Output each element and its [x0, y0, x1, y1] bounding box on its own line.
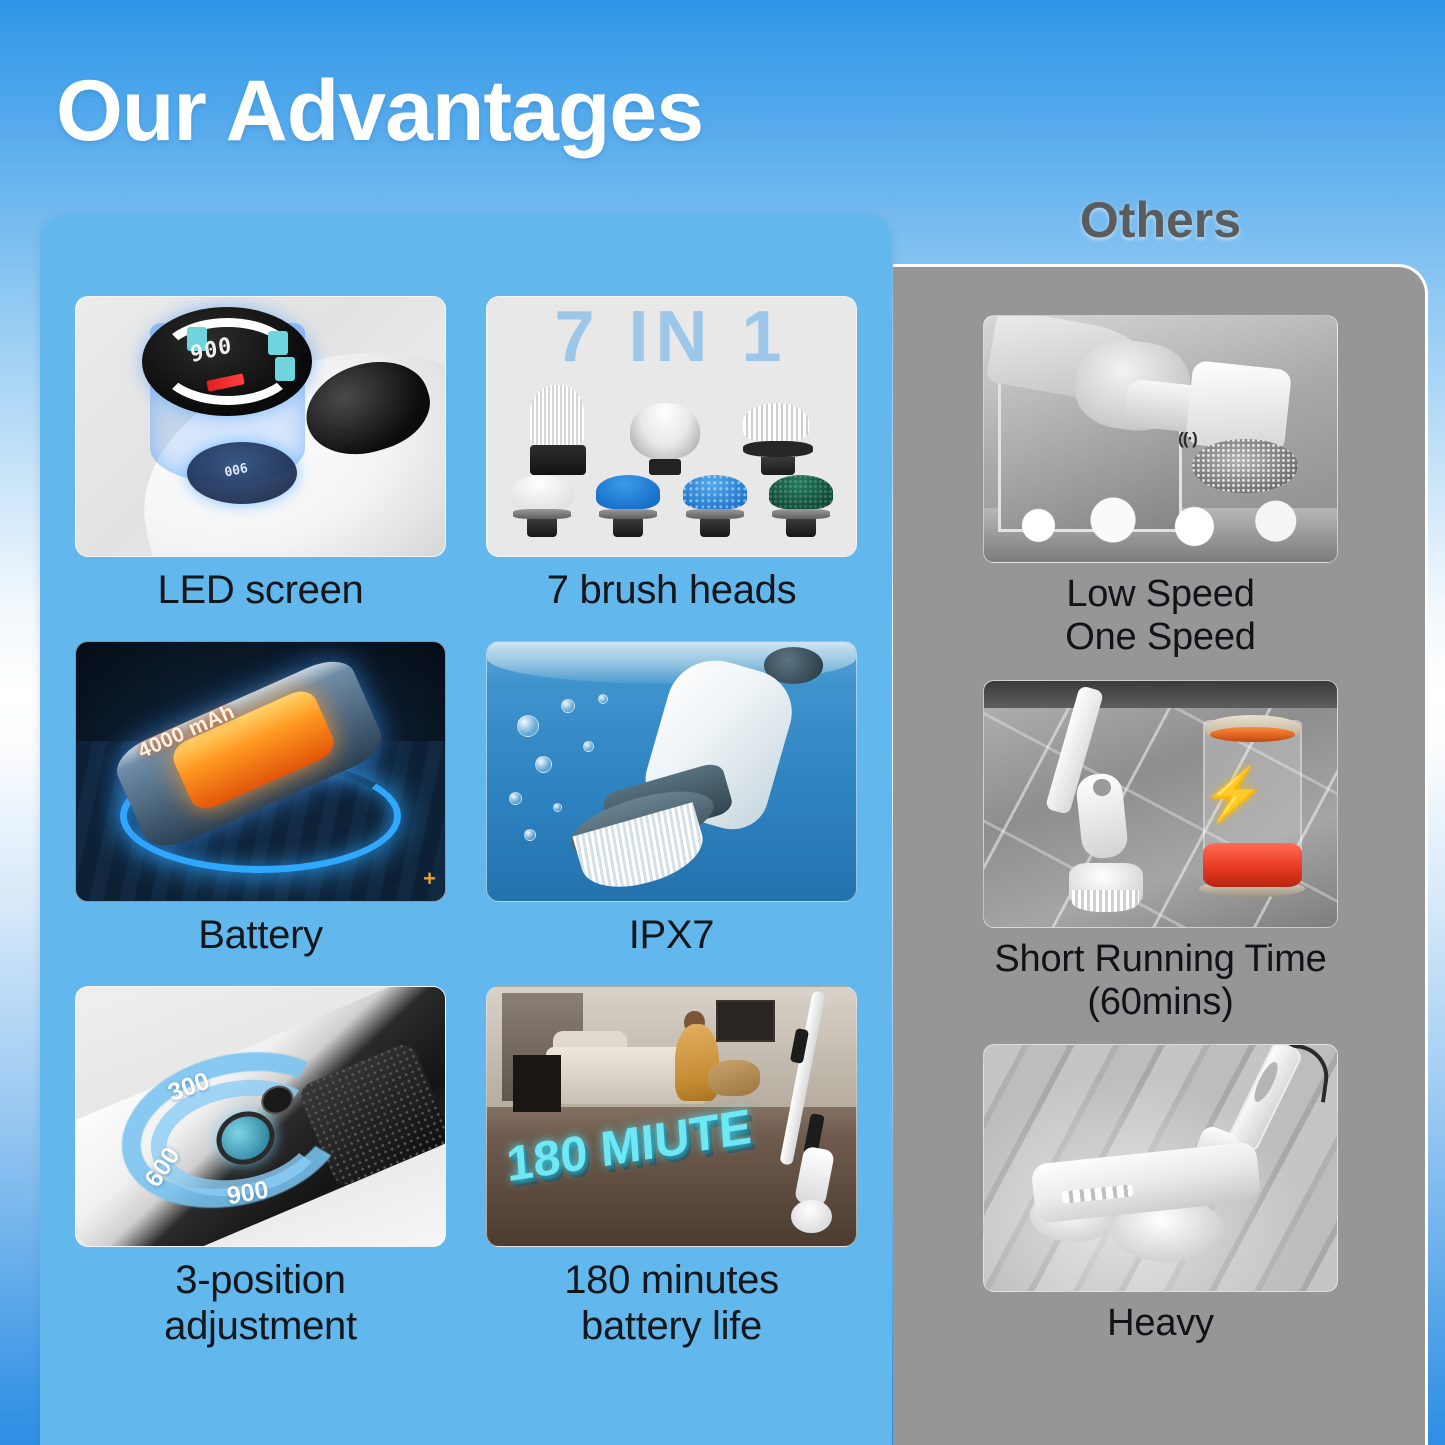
others-label-line2: One Speed: [1065, 616, 1255, 659]
steel-scrubber-shape: [1192, 439, 1298, 493]
others-label-line1: Short Running Time: [994, 938, 1326, 981]
white-polish-pad-icon: [510, 475, 574, 537]
battery-cap-glow-shape: [1210, 727, 1295, 742]
brush-head-row-top: [487, 385, 856, 475]
others-label: Low Speed One Speed: [1065, 573, 1255, 660]
others-panel: ((·) Low Speed One Speed: [893, 264, 1428, 1445]
others-card-low-speed[interactable]: ((·) Low Speed One Speed: [983, 315, 1338, 660]
feature-card-battery[interactable]: 4000 mAh + Battery: [70, 641, 451, 958]
cone-bristle-brush-icon: [530, 385, 586, 475]
dog-shape: [708, 1060, 760, 1096]
others-label: Short Running Time (60mins): [994, 938, 1326, 1025]
plus-terminal-icon: +: [423, 866, 436, 892]
led-reflection-dial: 900: [187, 442, 298, 504]
feature-label: 3-position adjustment: [164, 1258, 357, 1348]
bubble-icon: [517, 715, 539, 737]
brush-bristles-shape: [1072, 890, 1139, 912]
our-advantages-panel: 900 900 LED screen 7 IN 1: [40, 214, 892, 1445]
others-card-heavy[interactable]: Heavy: [983, 1044, 1338, 1345]
bubble-icon: [524, 829, 536, 841]
feature-label-line2: battery life: [564, 1304, 779, 1349]
feature-label-line2: adjustment: [164, 1304, 357, 1349]
feature-card-ipx7[interactable]: IPX7: [481, 641, 862, 958]
feature-label-line1: 3-position: [164, 1258, 357, 1303]
mop-head-shape: [791, 1200, 832, 1234]
battery-cell-icon: 4000 mAh +: [75, 641, 446, 902]
infographic-page: Our Advantages Others 900: [0, 0, 1445, 1445]
others-card-short-runtime[interactable]: ⚡ Short Running Time (60mins): [983, 680, 1338, 1025]
feature-label: IPX7: [629, 913, 715, 958]
blue-sponge-pad-icon: [596, 475, 660, 537]
foam-shape: [991, 493, 1330, 547]
led-reflection-readout: 900: [223, 458, 249, 478]
led-display-icon: 900 900: [75, 296, 446, 557]
feature-label: Battery: [198, 913, 323, 958]
runtime-icon: 180 MIUTE: [486, 986, 857, 1247]
waterproof-icon: [486, 641, 857, 902]
bubble-icon: [553, 803, 562, 812]
others-label-line2: (60mins): [994, 981, 1326, 1024]
led-segment: [275, 357, 295, 381]
battery-low-level-shape: [1203, 843, 1302, 887]
feature-label: LED screen: [158, 568, 364, 613]
others-label: Heavy: [1107, 1302, 1214, 1345]
mop-motor-body-shape: [794, 1145, 836, 1207]
feature-label: 7 brush heads: [547, 568, 797, 613]
bubble-icon: [535, 756, 552, 773]
our-advantages-grid: 900 900 LED screen 7 IN 1: [70, 296, 862, 1349]
sink-scrub-icon: ((·): [983, 315, 1338, 563]
others-list: ((·) Low Speed One Speed: [893, 315, 1428, 1346]
others-column-title: Others: [893, 195, 1428, 245]
speed-wave-icon: ((·): [1178, 429, 1197, 449]
lightning-bolt-icon: ⚡: [1202, 769, 1267, 821]
page-title: Our Advantages: [56, 68, 703, 154]
runtime-neon-text: 180 MIUTE: [505, 1103, 753, 1191]
led-segment: [268, 331, 288, 355]
green-scour-pad-icon: [769, 475, 833, 537]
bubble-icon: [509, 792, 522, 805]
bubble-icon: [561, 699, 575, 713]
feature-card-led-screen[interactable]: 900 900 LED screen: [70, 296, 451, 613]
low-battery-icon: ⚡: [983, 680, 1338, 928]
side-table-shape: [513, 1055, 561, 1112]
feature-card-brush-heads[interactable]: 7 IN 1: [481, 296, 862, 613]
wall-shelf-shape: [716, 1000, 775, 1041]
led-dial-face: 900: [142, 307, 312, 416]
bubble-icon: [598, 694, 608, 704]
flat-bristle-brush-icon: [743, 403, 813, 475]
feather-duster-brush-icon: [630, 403, 700, 475]
brush-heads-icon: 7 IN 1: [486, 296, 857, 557]
feature-card-runtime[interactable]: 180 MIUTE 180 minutes battery life: [481, 986, 862, 1348]
feature-card-speed-adjust[interactable]: 300 600 900 3-position adjustment: [70, 986, 451, 1348]
feature-label: 180 minutes battery life: [564, 1258, 779, 1348]
others-label-line1: Low Speed: [1065, 573, 1255, 616]
brush-head-row-bottom: [487, 475, 856, 537]
heavy-mop-icon: [983, 1044, 1338, 1292]
blue-scrub-pad-icon: [683, 475, 747, 537]
baseboard-shape: [984, 681, 1337, 708]
seven-in-one-headline: 7 IN 1: [487, 301, 856, 373]
feature-label-line1: 180 minutes: [564, 1258, 779, 1303]
speed-adjust-icon: 300 600 900: [75, 986, 446, 1247]
bubble-icon: [583, 741, 594, 752]
